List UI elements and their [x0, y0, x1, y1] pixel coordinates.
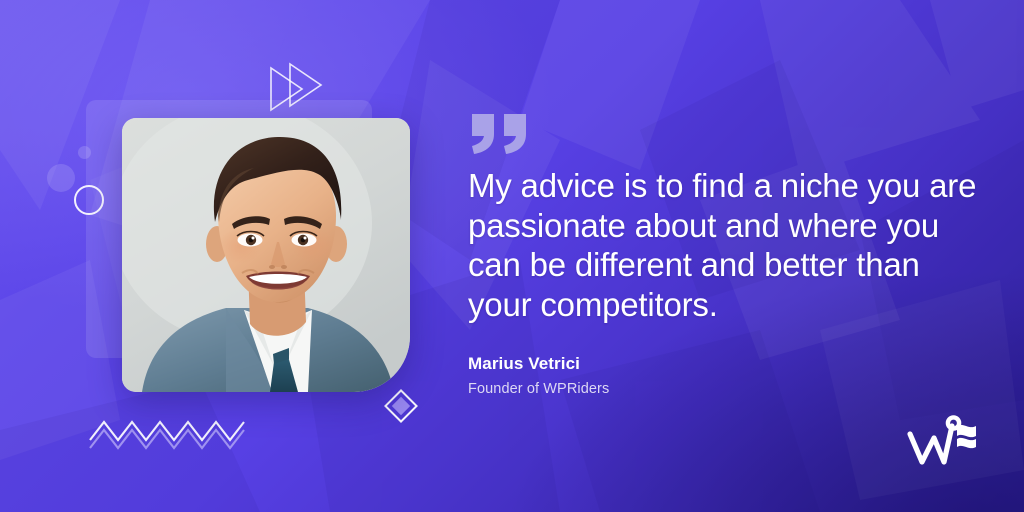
double-quote-icon [468, 112, 988, 158]
wpriders-w-flag-logo[interactable] [906, 412, 980, 474]
zigzag-line-icon [88, 410, 248, 454]
dot-icon [47, 164, 75, 192]
diamond-outline-icon [381, 386, 421, 426]
author-role: Founder of WPRiders [468, 381, 988, 397]
quote-block: My advice is to find a niche you are pas… [468, 112, 988, 397]
author-name: Marius Vetrici [468, 354, 988, 374]
attribution: Marius Vetrici Founder of WPRiders [468, 354, 988, 397]
quote-card: My advice is to find a niche you are pas… [0, 0, 1024, 512]
portrait-photo [122, 118, 410, 392]
quote-text: My advice is to find a niche you are pas… [468, 166, 988, 324]
